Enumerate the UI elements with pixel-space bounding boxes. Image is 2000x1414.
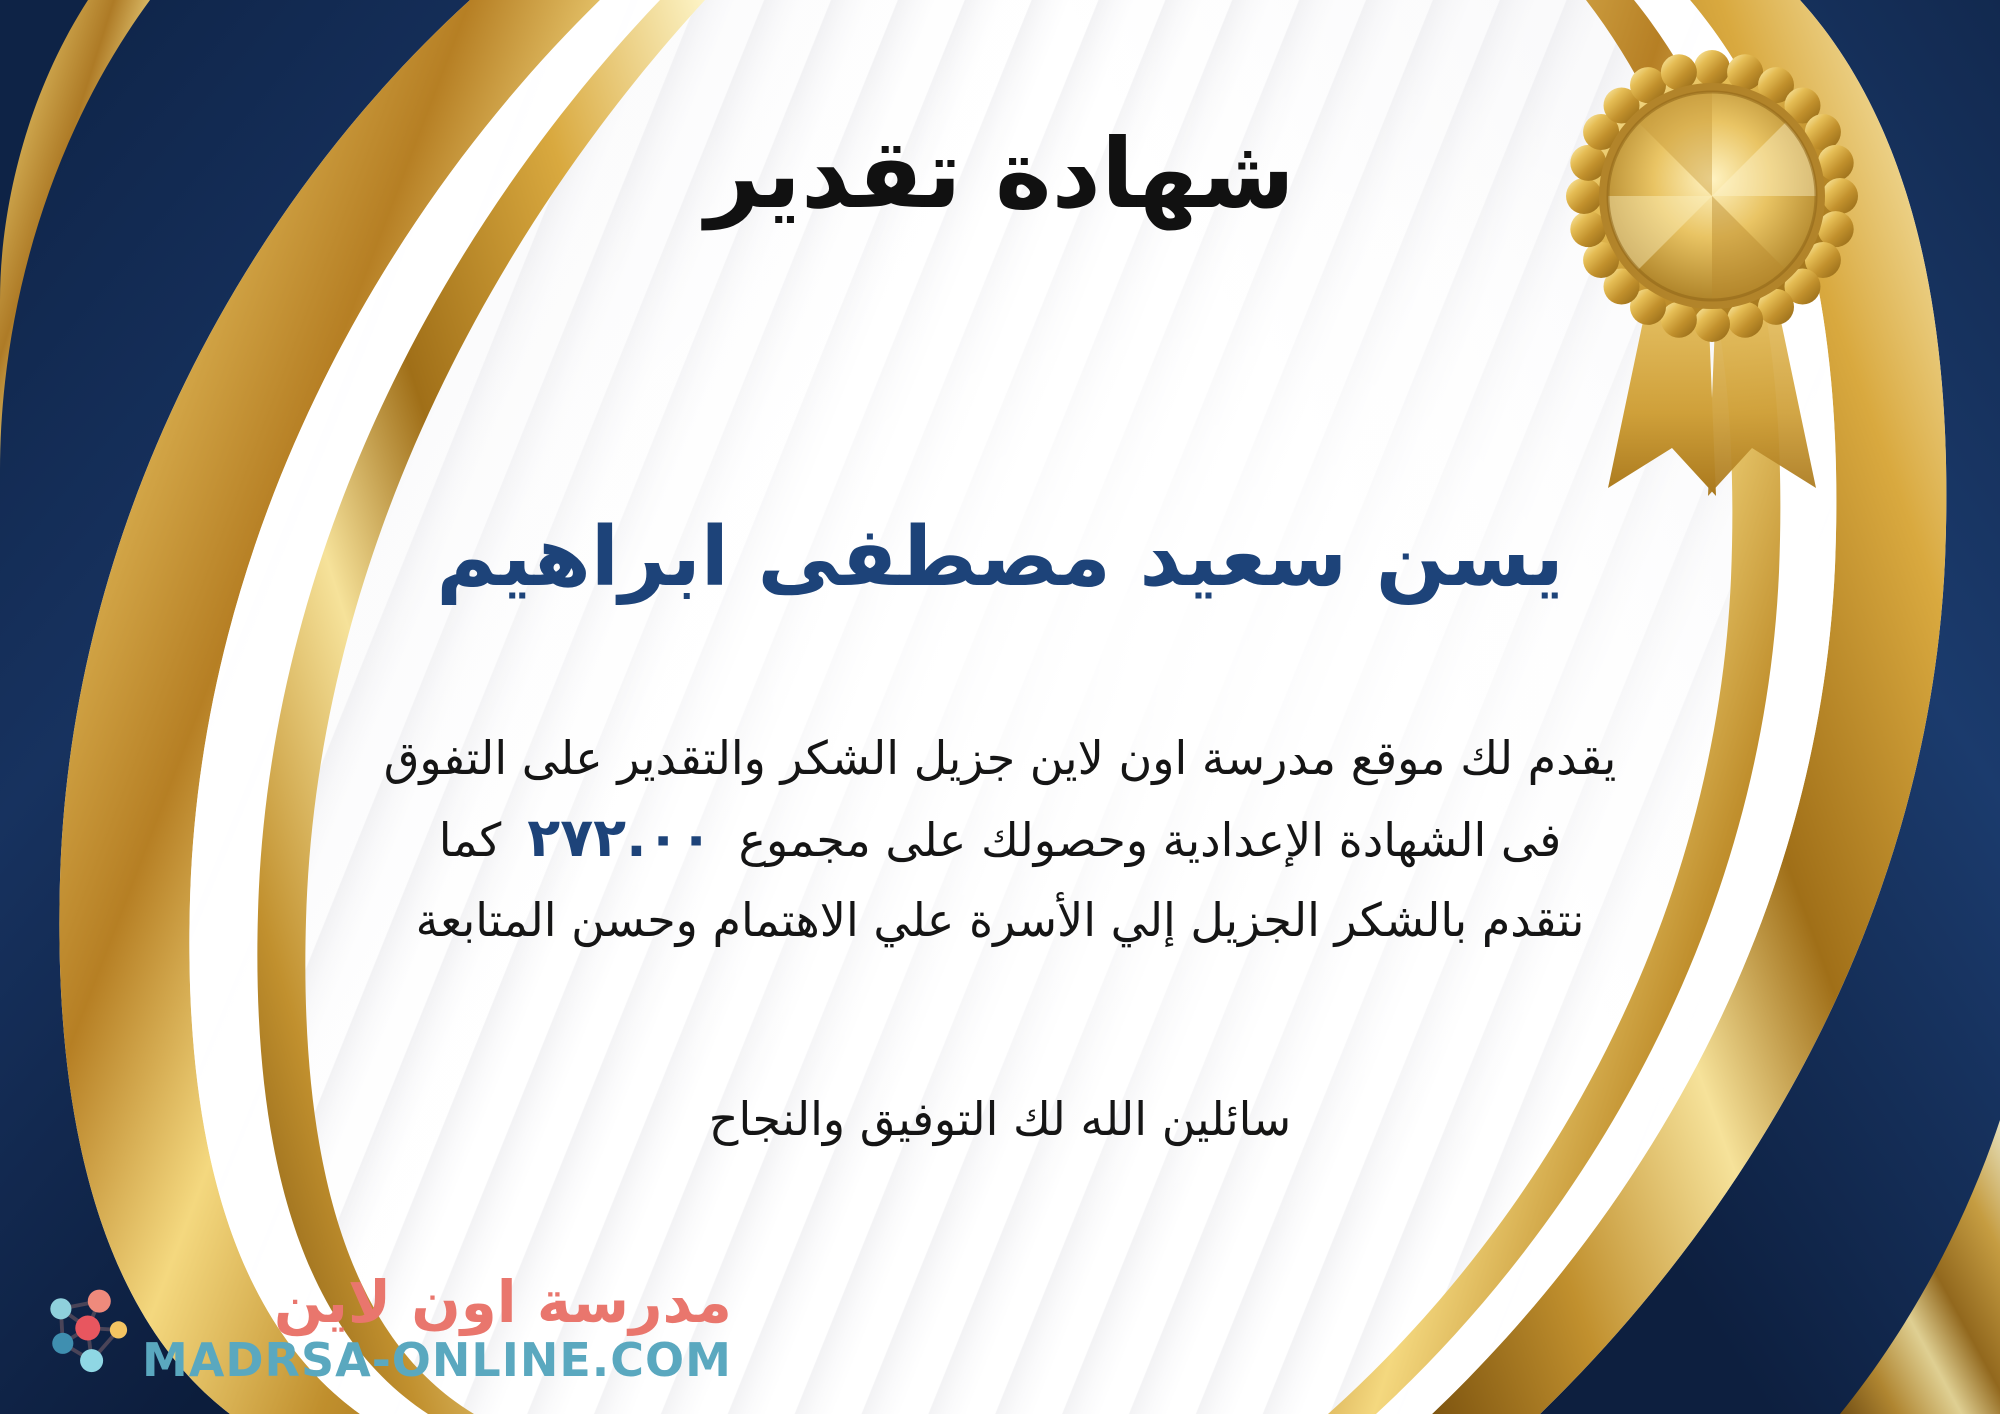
body-line-3: نتقدم بالشكر الجزيل إلي الأسرة علي الاهت… [50, 880, 1950, 960]
certificate-title: شهادة تقدير [0, 118, 2000, 230]
brand-logo-text: مدرسة اون لاين MADRSA-ONLINE.COM [142, 1270, 732, 1386]
brand-logo-url: MADRSA-ONLINE.COM [142, 1334, 732, 1386]
total-score-value: ٢٧٢.٠٠ [501, 806, 738, 869]
body-line-2-suffix: كما [439, 813, 502, 867]
network-nodes-icon [34, 1280, 130, 1376]
brand-logo-arabic: مدرسة اون لاين [274, 1270, 732, 1334]
certificate-body: يقدم لك موقع مدرسة اون لاين جزيل الشكر و… [50, 718, 1950, 960]
certificate-canvas: شهادة تقدير يسن سعيد مصطفى ابراهيم يقدم … [0, 0, 2000, 1414]
body-line-2-prefix: فى الشهادة الإعدادية وحصولك على مجموع [739, 813, 1562, 867]
body-line-1: يقدم لك موقع مدرسة اون لاين جزيل الشكر و… [50, 718, 1950, 798]
body-line-2: فى الشهادة الإعدادية وحصولك على مجموع٢٧٢… [50, 798, 1950, 880]
recipient-name: يسن سعيد مصطفى ابراهيم [0, 510, 2000, 605]
closing-line: سائلين الله لك التوفيق والنجاح [0, 1092, 2000, 1146]
brand-logo[interactable]: مدرسة اون لاين MADRSA-ONLINE.COM [34, 1270, 732, 1386]
